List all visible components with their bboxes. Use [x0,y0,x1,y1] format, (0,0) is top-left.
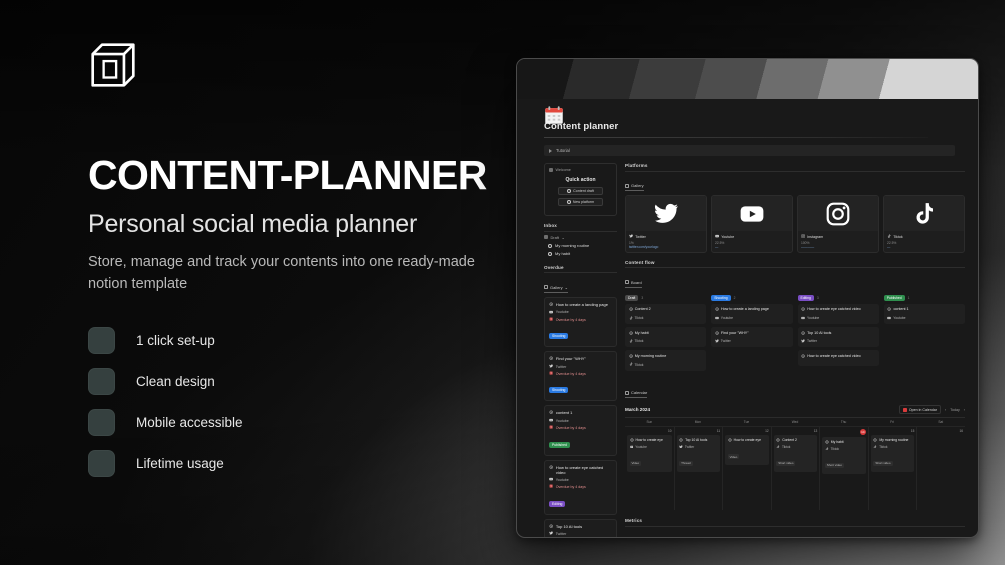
status-badge: Editing [549,501,565,507]
tab-label: Board [631,280,642,285]
marketing-panel: CONTENT-PLANNER Personal social media pl… [88,40,518,484]
card-title: How to create eye catched video [801,354,875,360]
youtube-icon [715,316,719,321]
calendar-day-cell[interactable]: 15My morning routineTiktokShort video [868,426,917,510]
card-platform: Youtube [549,310,612,315]
card-platform: Twitter [549,531,612,536]
open-in-calendar-label: Open in Calendar [909,408,937,412]
card-title: Find your "WHY" [715,331,789,337]
card-title: Content 2 [629,307,703,313]
card-platform: Tiktok [629,316,703,321]
tiktok-icon [776,445,780,450]
column-header: Draft3 [625,295,706,301]
youtube-icon [887,316,891,321]
gear-icon [567,200,571,204]
list-item[interactable]: Instagram100%———— [797,195,879,253]
card-platform: Twitter [549,364,612,369]
calendar-day-cell[interactable]: 11Top 10 AI toolsTwitterThread [674,426,723,510]
board-column: Draft3Content 2TiktokMy habitTiktokMy mo… [625,295,706,374]
calendar-weekday-row: SunMonTueWedThuFriSat [625,418,965,426]
gear-icon [801,354,805,360]
sidebar-column: Welcome Quick action Content draft New p… [544,163,617,538]
platforms-header: Platforms [625,163,965,168]
feature-label: Lifetime usage [136,456,224,471]
calendar-month-label: March 2024 [625,407,650,412]
chevron-down-icon: ⌄ [565,285,568,290]
column-count: 3 [817,296,819,300]
tiktok-icon [825,447,829,452]
column-header: Published1 [884,295,965,301]
gear-icon [548,252,552,256]
divider [544,272,617,273]
calendar-day-number: 10 [627,429,672,433]
event-tag: Thread [679,461,693,466]
list-item[interactable]: Find your "WHY"TwitterOverdue by 4 daysS… [544,351,617,401]
event-tag: Short video [776,461,795,466]
gear-icon [801,331,805,337]
column-header: Editing3 [798,295,879,301]
calendar-weekday: Wed [771,418,820,426]
calendar-day-number: 12 [725,429,769,433]
page-cover-banner [517,59,978,99]
card-platform: Youtube [715,316,789,321]
divider [625,526,965,527]
board-icon [625,280,629,284]
calendar-day-cell[interactable]: 13Content 2TiktokShort video [771,426,820,510]
platform-link[interactable]: ———— [801,245,875,249]
chevron-right-icon[interactable]: › [964,408,965,412]
calendar-day-number: 16 [919,429,963,433]
gear-icon [715,331,719,337]
card-platform: Tiktok [629,362,703,367]
calendar-event[interactable]: My morning routineTiktokShort video [871,435,915,471]
feature-label: Mobile accessible [136,415,243,430]
clock-icon [549,425,553,430]
gear-icon [887,307,891,313]
gear-icon [629,354,633,360]
tab-label: Gallery [631,183,644,188]
twitter-icon [626,196,706,231]
twitter-icon [679,445,683,450]
event-tag: Short video [825,463,844,468]
calendar-section: Calendar March 2024 Open in Calendar ‹ T… [625,382,965,511]
feature-list: 1 click set-up Clean design Mobile acces… [88,320,518,484]
page-subtitle: Personal social media planner [88,210,518,239]
list-icon [544,235,548,239]
calendar-event[interactable]: My habitTiktokShort video [822,437,866,473]
calendar-day-cells: 10How to create eyeYoutubeVideo11Top 10 … [625,426,965,510]
status-badge: Editing [798,295,814,301]
kanban-board: Draft3Content 2TiktokMy habitTiktokMy mo… [625,295,965,374]
tiktok-icon [887,234,891,239]
divider [625,267,965,268]
card-platform: Youtube [801,316,875,321]
calendar-icon [903,408,907,412]
event-platform: Youtube [630,445,670,450]
inbox-section: Inbox Draft ⌄ My morning routine My habi… [544,223,617,258]
notion-page-title[interactable]: Content planner [544,121,965,132]
quick-action-card: Welcome Quick action Content draft New p… [544,163,617,216]
calendar-weekday: Sat [916,418,965,426]
open-in-calendar-button[interactable]: Open in Calendar [899,405,941,414]
metrics-section: Metrics Goals Twitter21k followers4%10k … [625,518,965,538]
event-title: How to create eye [630,438,670,443]
instagram-icon [801,234,805,239]
board-column: Published1content 1Youtube [884,295,965,374]
calendar-weekday: Thu [819,418,868,426]
feature-label: 1 click set-up [136,333,215,348]
main-column: Platforms Gallery Twitter1%twitter.com/y… [625,163,965,538]
clock-icon [549,317,553,322]
platform-name: Twitter [629,234,703,239]
notion-cube-logo-icon [88,40,138,90]
calendar-weekday: Fri [868,418,917,426]
twitter-icon [801,339,805,344]
board-card[interactable]: How to create eye catched video [798,350,879,365]
event-title: My habit [825,440,864,445]
feature-check-icon [88,368,115,395]
calendar-grid: SunMonTueWedThuFriSat 10How to create ey… [625,417,965,510]
calendar-weekday: Tue [722,418,771,426]
home-icon [549,168,553,172]
inbox-item-label: My morning routine [555,243,589,248]
feature-check-icon [88,409,115,436]
feature-label: Clean design [136,374,215,389]
chevron-right-icon [549,149,552,153]
calendar-day-cell[interactable]: 16 [916,426,965,510]
card-title: Top 10 AI tools [801,331,875,337]
tiktok-icon [629,362,633,367]
calendar-day-number: 14 [860,429,866,435]
notion-app-window[interactable]: Content planner Tutorial Welcome Quick a… [516,58,979,538]
board-card[interactable]: Find your "WHY"Twitter [711,327,792,347]
today-button[interactable]: Today [950,408,960,412]
feature-check-icon [88,450,115,477]
column-count: 2 [734,296,736,300]
card-platform: Youtube [549,418,612,423]
list-item[interactable]: My habit [544,250,617,258]
event-tag: Video [630,461,642,466]
platform-link[interactable]: — [715,245,789,249]
inbox-group-draft[interactable]: Draft ⌄ [544,235,617,240]
board-card[interactable]: Top 10 AI toolsTwitter [798,327,879,347]
column-count: 3 [641,296,643,300]
card-platform: Tiktok [629,339,703,344]
list-item[interactable]: My morning routine [544,242,617,250]
title-divider [544,137,928,138]
event-tag: Short video [873,461,892,466]
board-card[interactable]: content 1Youtube [884,304,965,324]
calendar-event[interactable]: Top 10 AI toolsTwitterThread [677,435,721,471]
event-tag: Video [728,454,740,459]
tab-platforms-gallery[interactable]: Gallery [625,183,644,191]
gear-icon [549,465,553,470]
content-flow-header: Content flow [625,260,965,265]
welcome-label: Welcome [556,168,571,172]
event-title: Content 2 [776,438,815,443]
tab-gallery[interactable]: Gallery ⌄ [544,285,568,293]
gallery-icon [625,184,629,188]
card-platform: Twitter [715,339,789,344]
calendar-weekday: Sun [625,418,674,426]
gear-icon [776,438,780,443]
gear-icon [549,302,553,307]
page-description: Store, manage and track your contents in… [88,251,480,295]
new-platform-label: New platform [573,200,594,204]
youtube-icon [630,445,634,450]
event-title: How to create eye [728,438,767,443]
inbox-header: Inbox [544,223,617,228]
card-due: Overdue by 4 days [549,371,612,376]
board-column: Editing3How to create eye catched videoY… [798,295,879,374]
twitter-icon [549,531,553,536]
calendar-toolbar: March 2024 Open in Calendar ‹ Today › [625,405,965,414]
clock-icon [549,484,553,489]
tiktok-icon [629,339,633,344]
gear-icon [825,440,829,445]
event-platform: Tiktok [825,447,864,452]
list-item: 1 click set-up [88,320,518,361]
calendar-day-cell[interactable]: 14My habitTiktokShort video [819,426,868,510]
card-due: Overdue by 4 days [549,425,612,430]
platforms-section: Platforms Gallery Twitter1%twitter.com/y… [625,163,965,253]
status-badge: Draft [625,295,638,301]
card-title: content 1 [887,307,961,313]
youtube-icon [715,234,719,239]
metrics-header: Metrics [625,518,965,523]
gear-icon [629,331,633,337]
overdue-card-list: How to create a landing pageYoutubeOverd… [544,297,617,538]
card-platform: Youtube [549,477,612,482]
event-title: Top 10 AI tools [679,438,718,443]
list-item[interactable]: Top 10 AI toolsTwitterOverdue by 1 dayEd… [544,519,617,538]
gear-icon [548,244,552,248]
list-item[interactable]: How to create a landing pageYoutubeOverd… [544,297,617,347]
platform-link[interactable]: twitter.com/yourlogo [629,245,703,249]
youtube-icon [712,196,792,231]
event-platform: Twitter [679,445,718,450]
welcome-header: Welcome [549,168,612,172]
gear-icon [630,438,634,443]
gear-icon [873,438,877,443]
list-item[interactable]: Tiktok22.5%— [883,195,965,253]
youtube-icon [549,418,553,423]
gallery-icon [544,285,548,289]
event-title: My morning routine [873,438,912,443]
list-item[interactable]: How to create eye catched videoYoutubeOv… [544,460,617,515]
calendar-icon [625,391,629,395]
content-draft-label: Content draft [573,189,594,193]
page-title: CONTENT-PLANNER [88,155,518,196]
board-card[interactable]: My morning routineTiktok [625,350,706,370]
gear-icon [728,438,732,443]
column-header: Shooting2 [711,295,792,301]
new-platform-button[interactable]: New platform [558,198,603,206]
gear-icon [549,410,553,415]
calendar-day-cell[interactable]: 10How to create eyeYoutubeVideo [625,426,674,510]
list-item[interactable]: Youtube22.5%— [711,195,793,253]
card-title: content 1 [549,410,612,415]
list-item: Clean design [88,361,518,402]
card-title: Top 10 AI tools [549,524,612,529]
card-title: Find your "WHY" [549,356,612,361]
card-title: How to create eye catched video [549,465,612,475]
card-title: How to create a landing page [549,302,612,307]
tiktok-icon [884,196,964,231]
card-platform: Youtube [887,316,961,321]
tutorial-toggle-label: Tutorial [556,148,570,153]
twitter-icon [549,364,553,369]
clock-icon [549,371,553,376]
event-platform: Tiktok [776,445,815,450]
platform-link[interactable]: — [887,245,961,249]
inbox-group-label: Draft [551,235,559,240]
status-badge: Published [549,442,570,448]
card-platform: Twitter [801,339,875,344]
status-badge: Shooting [549,333,568,339]
tutorial-toggle[interactable]: Tutorial [544,145,955,156]
status-badge: Shooting [711,295,730,301]
tab-gallery-label: Gallery [550,285,563,290]
twitter-icon [715,339,719,344]
instagram-icon [798,196,878,231]
board-card[interactable]: Content 2Tiktok [625,304,706,324]
gear-icon [567,189,571,193]
divider [544,231,617,232]
card-title: My habit [629,331,703,337]
list-item: Mobile accessible [88,402,518,443]
list-item[interactable]: Twitter1%twitter.com/yourlogo [625,195,707,253]
gear-icon [715,307,719,313]
card-title: How to create a landing page [715,307,789,313]
list-item: Lifetime usage [88,443,518,484]
card-due: Overdue by 4 days [549,484,612,489]
list-item[interactable]: content 1YoutubeOverdue by 4 daysPublish… [544,405,617,455]
quick-action-title: Quick action [549,177,612,183]
tiktok-icon [873,445,877,450]
calendar-day-cell[interactable]: 12How to create eyeVideo [722,426,771,510]
gear-icon [629,307,633,313]
chevron-down-icon: ⌄ [561,235,564,240]
calendar-day-number: 11 [677,429,721,433]
platform-name: Youtube [715,234,789,239]
card-title: My morning routine [629,354,703,360]
gear-icon [679,438,683,443]
chevron-left-icon[interactable]: ‹ [945,408,946,412]
calendar-day-number: 13 [774,429,818,433]
platform-name: Instagram [801,234,875,239]
board-card[interactable]: How to create a landing pageYoutube [711,304,792,324]
card-title: How to create eye catched video [801,307,875,313]
youtube-icon [549,477,553,482]
board-card[interactable]: How to create eye catched videoYoutube [798,304,879,324]
card-due: Overdue by 4 days [549,317,612,322]
calendar-event[interactable]: How to create eyeYoutubeVideo [627,435,672,471]
overdue-header: Overdue [544,265,617,270]
platform-gallery: Twitter1%twitter.com/yourlogoYoutube22.5… [625,195,965,253]
board-card[interactable]: My habitTiktok [625,327,706,347]
gear-icon [549,524,553,529]
content-draft-button[interactable]: Content draft [558,187,603,195]
gear-icon [549,356,553,361]
platform-name: Tiktok [887,234,961,239]
column-count: 1 [908,296,910,300]
divider [625,171,965,172]
status-badge: Shooting [549,387,568,393]
overdue-section: Overdue Gallery ⌄ How to create a landin… [544,265,617,538]
gear-icon [801,307,805,313]
tab-board[interactable]: Board [625,280,642,288]
calendar-day-number: 15 [871,429,915,433]
tab-calendar[interactable]: Calendar [625,390,647,398]
feature-check-icon [88,327,115,354]
calendar-event[interactable]: How to create eyeVideo [725,435,769,465]
twitter-icon [629,234,633,239]
event-platform: Tiktok [873,445,912,450]
tiktok-icon [629,316,633,321]
status-badge: Published [884,295,905,301]
calendar-emoji-icon [544,105,564,125]
inbox-item-label: My habit [555,251,570,256]
youtube-icon [801,316,805,321]
tab-label: Calendar [631,390,647,395]
youtube-icon [549,310,553,315]
calendar-event[interactable]: Content 2TiktokShort video [774,435,818,471]
board-column: Shooting2How to create a landing pageYou… [711,295,792,374]
calendar-weekday: Mon [674,418,723,426]
content-flow-section: Content flow Board Draft3Content 2Tiktok… [625,260,965,374]
